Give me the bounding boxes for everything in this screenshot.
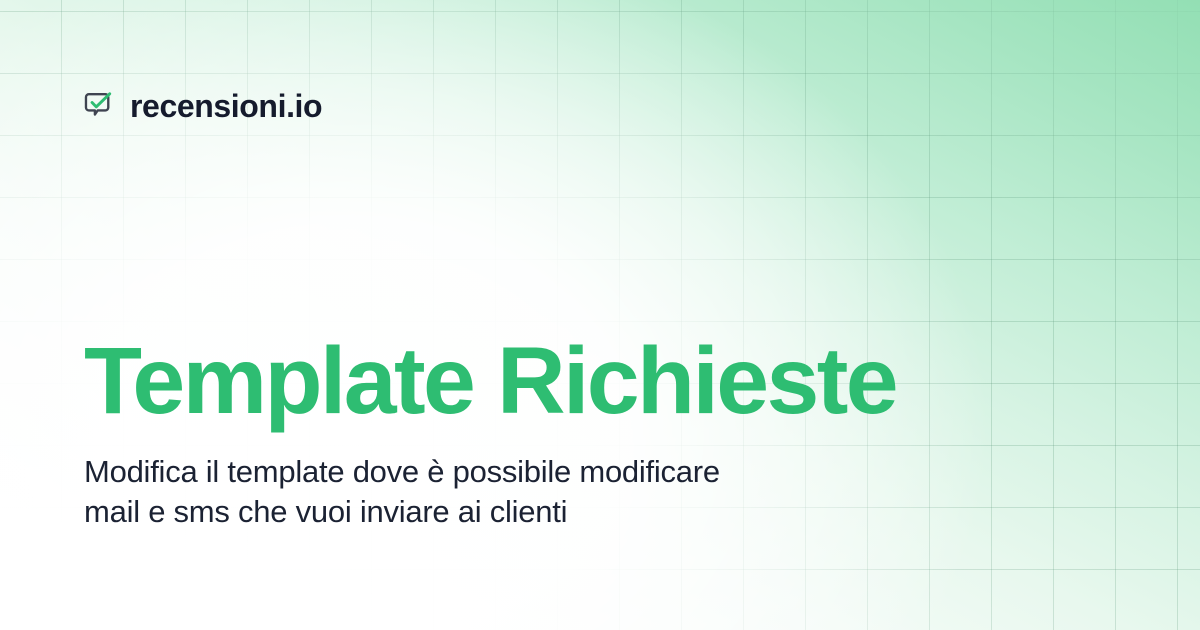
brand-name: recensioni.io [130, 90, 322, 122]
page-title: Template Richieste [84, 333, 1084, 430]
page-subtitle: Modifica il template dove è possibile mo… [84, 452, 884, 532]
og-card: recensioni.io Template Richieste Modific… [0, 0, 1200, 630]
review-check-bubble-icon [84, 91, 114, 121]
page-subtitle-line-2: mail e sms che vuoi inviare ai clienti [84, 492, 884, 532]
page-subtitle-line-1: Modifica il template dove è possibile mo… [84, 452, 884, 492]
hero-text-block: Template Richieste Modifica il template … [84, 333, 1084, 532]
brand-lockup[interactable]: recensioni.io [84, 84, 322, 128]
card-content: recensioni.io Template Richieste Modific… [0, 0, 1200, 630]
